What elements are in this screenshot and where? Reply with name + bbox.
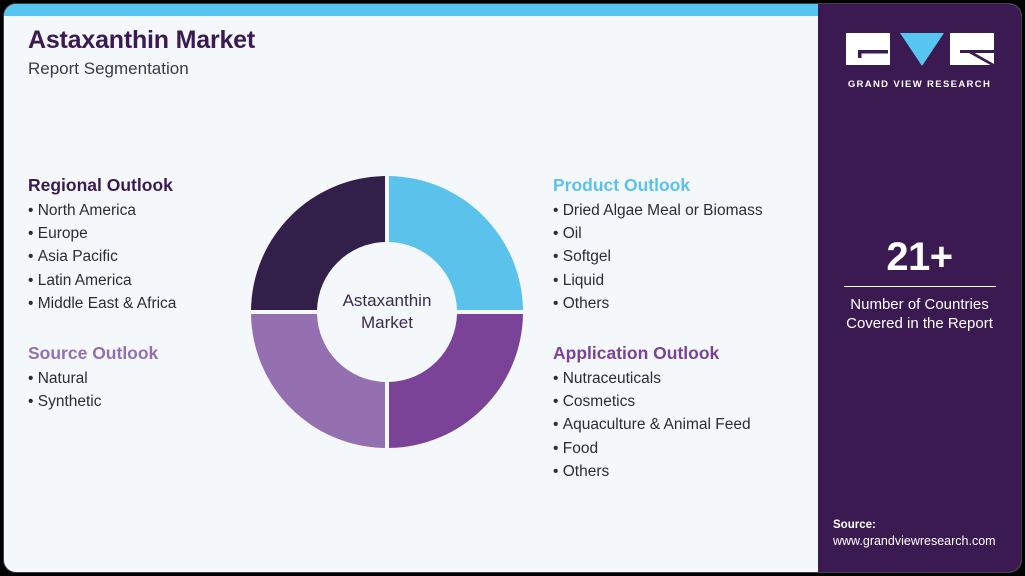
list-item: Softgel — [553, 245, 763, 268]
donut-segment-source — [251, 314, 385, 448]
list-item: Latin America — [28, 269, 176, 292]
header: Astaxanthin Market Report Segmentation — [28, 26, 728, 79]
list-item: Food — [553, 437, 751, 460]
logo-caption: GRAND VIEW RESEARCH — [818, 79, 1021, 90]
stat-value: 21+ — [818, 236, 1021, 278]
list-item: Others — [553, 460, 751, 483]
donut-segment-regional — [251, 176, 385, 310]
segment-heading-regional: Regional Outlook — [28, 174, 176, 197]
list-item: Europe — [28, 222, 176, 245]
logo-letter-g — [846, 33, 890, 65]
stat-label-line1: Number of Countries — [818, 295, 1021, 314]
segment-group-source: Source Outlook Natural Synthetic — [28, 342, 158, 413]
list-item: Others — [553, 292, 763, 315]
list-item: Cosmetics — [553, 390, 751, 413]
logo-letter-r — [950, 33, 994, 67]
list-item: Middle East & Africa — [28, 292, 176, 315]
donut-chart: Astaxanthin Market — [245, 170, 529, 454]
list-item: Oil — [553, 222, 763, 245]
segment-list-product: Dried Algae Meal or Biomass Oil Softgel … — [553, 199, 763, 315]
stat-divider — [844, 286, 996, 287]
list-item: Nutraceuticals — [553, 367, 751, 390]
list-item: Liquid — [553, 269, 763, 292]
page-title: Astaxanthin Market — [28, 26, 728, 55]
list-item: Dried Algae Meal or Biomass — [553, 199, 763, 222]
list-item: Synthetic — [28, 390, 158, 413]
source-url[interactable]: www.grandviewresearch.com — [833, 533, 1018, 550]
donut-segment-product — [389, 176, 523, 310]
logo-marks — [846, 31, 994, 67]
segment-list-application: Nutraceuticals Cosmetics Aquaculture & A… — [553, 367, 751, 483]
segment-group-regional: Regional Outlook North America Europe As… — [28, 174, 176, 315]
segment-heading-application: Application Outlook — [553, 342, 751, 365]
infographic-root: Astaxanthin Market Report Segmentation A… — [0, 0, 1025, 576]
segment-heading-source: Source Outlook — [28, 342, 158, 365]
segment-group-application: Application Outlook Nutraceuticals Cosme… — [553, 342, 751, 483]
segment-list-source: Natural Synthetic — [28, 367, 158, 414]
brand-logo[interactable]: GRAND VIEW RESEARCH — [818, 31, 1021, 90]
stat-countries: 21+ Number of Countries Covered in the R… — [818, 236, 1021, 333]
source-block: Source: www.grandviewresearch.com — [833, 518, 1018, 550]
stat-label-line2: Covered in the Report — [818, 314, 1021, 333]
source-title: Source: — [833, 518, 1018, 534]
list-item: Aquaculture & Animal Feed — [553, 413, 751, 436]
donut-segment-application — [389, 314, 523, 448]
list-item: North America — [28, 199, 176, 222]
list-item: Asia Pacific — [28, 245, 176, 268]
sidebar-panel: GRAND VIEW RESEARCH 21+ Number of Countr… — [818, 4, 1021, 572]
segment-list-regional: North America Europe Asia Pacific Latin … — [28, 199, 176, 315]
donut-svg — [245, 170, 529, 454]
segment-group-product: Product Outlook Dried Algae Meal or Biom… — [553, 174, 763, 315]
page-subtitle: Report Segmentation — [28, 59, 728, 79]
logo-triangle-v — [900, 33, 944, 66]
stat-label: Number of Countries Covered in the Repor… — [818, 295, 1021, 333]
main-card: Astaxanthin Market Report Segmentation A… — [4, 4, 1021, 572]
list-item: Natural — [28, 367, 158, 390]
gvr-logo-icon — [846, 31, 994, 67]
segment-heading-product: Product Outlook — [553, 174, 763, 197]
